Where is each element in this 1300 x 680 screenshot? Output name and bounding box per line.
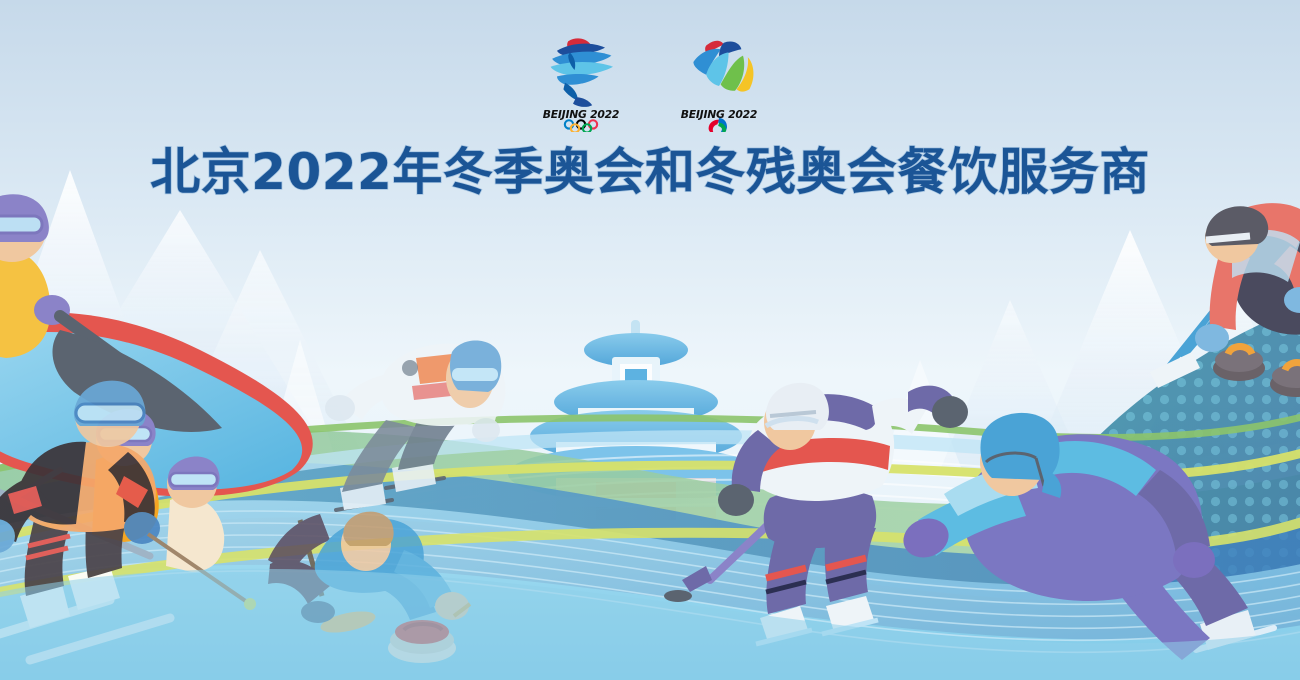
speed-skater-purple <box>898 413 1274 660</box>
olympic-wordmark: BEIJING 2022 <box>543 108 619 121</box>
ice-hockey-player <box>664 383 968 644</box>
emblem-row: BEIJING 2022 <box>0 30 1300 132</box>
page-title: 北京2022年冬季奥会和冬残奥会餐饮服务商 <box>150 146 1150 199</box>
olympic-emblem: BEIJING 2022 <box>533 30 629 132</box>
speed-skater-white <box>325 340 505 510</box>
flight-fei-character <box>693 41 753 92</box>
olympic-rings <box>565 120 597 132</box>
beijing-2022-banner: BEIJING 2022 <box>0 0 1300 680</box>
paralympic-emblem: BEIJING 2022 <box>671 30 767 132</box>
curling-stones-right <box>1213 347 1300 398</box>
winter-dream-dong-character <box>551 38 613 107</box>
page-title-container: 北京2022年冬季奥会和冬残奥会餐饮服务商 <box>0 146 1300 199</box>
